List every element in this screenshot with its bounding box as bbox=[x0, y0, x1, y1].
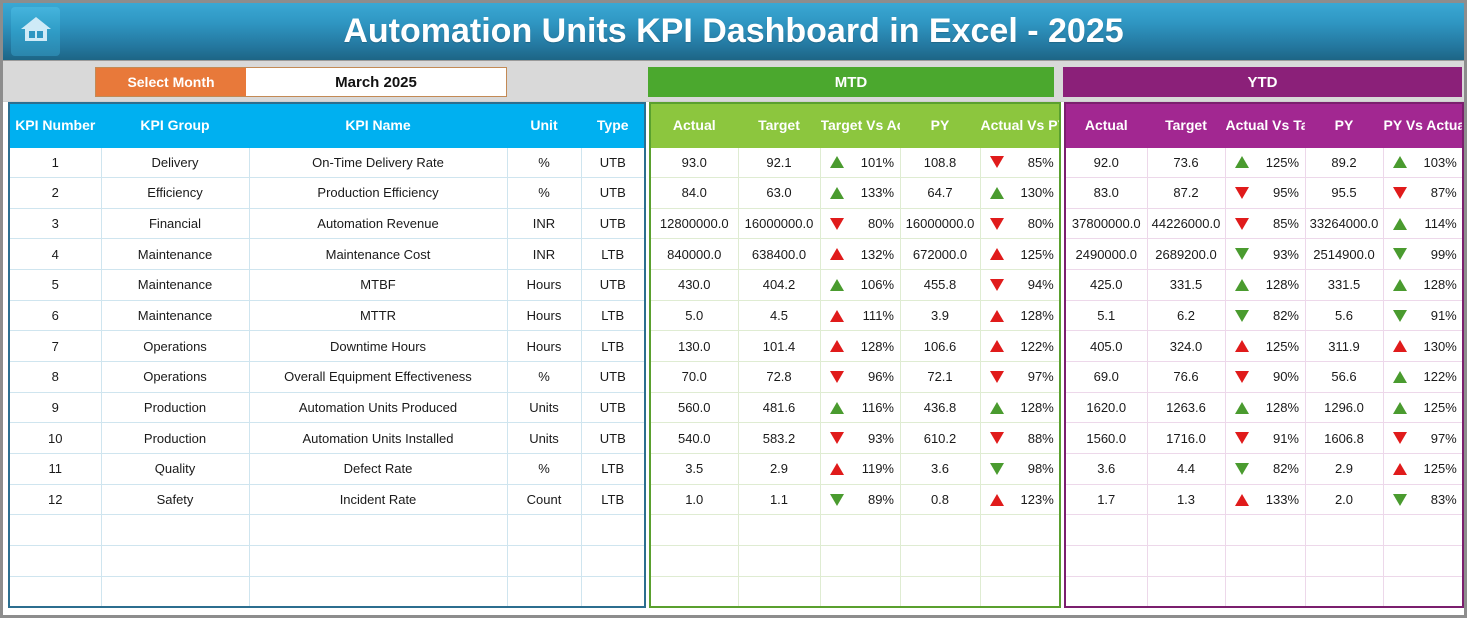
table-row[interactable]: 83.087.295%95.587% bbox=[1065, 178, 1463, 209]
arrow-down-icon bbox=[990, 432, 1004, 444]
cell-type: UTB bbox=[581, 392, 645, 423]
table-row[interactable]: 2EfficiencyProduction Efficiency%UTB bbox=[9, 178, 645, 209]
percent-value: 132% bbox=[854, 247, 894, 262]
table-row[interactable]: 4MaintenanceMaintenance CostINRLTB bbox=[9, 239, 645, 270]
cell-mtd-target: 101.4 bbox=[738, 331, 820, 362]
cell-ytd-py: 2514900.0 bbox=[1305, 239, 1383, 270]
cell-ytd-target: 44226000.0 bbox=[1147, 208, 1225, 239]
cell-ytd-py-vs-actual: 83% bbox=[1383, 484, 1463, 515]
cell-ytd-py-vs-actual: 97% bbox=[1383, 423, 1463, 454]
cell-mtd-target: 404.2 bbox=[738, 270, 820, 301]
cell-kpi-group: Maintenance bbox=[101, 300, 249, 331]
cell-ytd-target: 73.6 bbox=[1147, 147, 1225, 178]
cell-info-empty bbox=[101, 515, 249, 546]
percent-value: 114% bbox=[1417, 216, 1457, 231]
kpi-info-table: KPI Number KPI Group KPI Name Unit Type … bbox=[8, 102, 646, 608]
empty-table-row[interactable] bbox=[9, 576, 645, 607]
cell-info-empty bbox=[249, 576, 507, 607]
cell-ytd-empty bbox=[1305, 576, 1383, 607]
percent-value: 125% bbox=[1417, 400, 1457, 415]
cell-mtd-target: 638400.0 bbox=[738, 239, 820, 270]
col-mtd-actual[interactable]: Actual bbox=[650, 103, 738, 147]
kpi-grid-area: KPI Number KPI Group KPI Name Unit Type … bbox=[3, 102, 1464, 614]
percent-value: 111% bbox=[854, 308, 894, 323]
table-row[interactable]: 540.0583.293%610.288% bbox=[650, 423, 1060, 454]
cell-type: LTB bbox=[581, 484, 645, 515]
cell-ytd-empty bbox=[1225, 515, 1305, 546]
cell-ytd-actual-vs-target: 128% bbox=[1225, 392, 1305, 423]
percent-value: 93% bbox=[1259, 247, 1299, 262]
col-ytd-actual-vs-target[interactable]: Actual Vs Target bbox=[1225, 103, 1305, 147]
table-row[interactable]: 3FinancialAutomation RevenueINRUTB bbox=[9, 208, 645, 239]
empty-table-row[interactable] bbox=[650, 515, 1060, 546]
page-title: Automation Units KPI Dashboard in Excel … bbox=[343, 12, 1123, 51]
cell-ytd-target: 1.3 bbox=[1147, 484, 1225, 515]
percent-value: 125% bbox=[1417, 461, 1457, 476]
cell-ytd-actual: 92.0 bbox=[1065, 147, 1147, 178]
cell-mtd-actual: 70.0 bbox=[650, 362, 738, 393]
cell-ytd-py: 2.9 bbox=[1305, 454, 1383, 485]
cell-ytd-py-vs-actual: 91% bbox=[1383, 300, 1463, 331]
cell-kpi-name: Automation Revenue bbox=[249, 208, 507, 239]
cell-ytd-actual: 1560.0 bbox=[1065, 423, 1147, 454]
percent-value: 99% bbox=[1417, 247, 1457, 262]
cell-unit: Hours bbox=[507, 331, 581, 362]
arrow-down-icon bbox=[1393, 432, 1407, 444]
arrow-down-icon bbox=[1393, 248, 1407, 260]
cell-ytd-target: 4.4 bbox=[1147, 454, 1225, 485]
col-ytd-py[interactable]: PY bbox=[1305, 103, 1383, 147]
percent-value: 101% bbox=[854, 155, 894, 170]
percent-value: 128% bbox=[1259, 400, 1299, 415]
table-row[interactable]: 560.0481.6116%436.8128% bbox=[650, 392, 1060, 423]
empty-table-row[interactable] bbox=[9, 515, 645, 546]
col-kpi-name[interactable]: KPI Name bbox=[249, 103, 507, 147]
mtd-section-banner[interactable]: MTD bbox=[648, 67, 1054, 97]
cell-kpi-number: 8 bbox=[9, 362, 101, 393]
percent-value: 82% bbox=[1259, 308, 1299, 323]
col-ytd-actual[interactable]: Actual bbox=[1065, 103, 1147, 147]
cell-ytd-py: 5.6 bbox=[1305, 300, 1383, 331]
cell-ytd-py: 89.2 bbox=[1305, 147, 1383, 178]
cell-mtd-target-vs-actual: 101% bbox=[820, 147, 900, 178]
table-row[interactable]: 425.0331.5128%331.5128% bbox=[1065, 270, 1463, 301]
arrow-down-icon bbox=[830, 494, 844, 506]
cell-ytd-py-vs-actual: 87% bbox=[1383, 178, 1463, 209]
cell-mtd-py: 64.7 bbox=[900, 178, 980, 209]
cell-kpi-number: 3 bbox=[9, 208, 101, 239]
arrow-up-icon bbox=[1235, 340, 1249, 352]
cell-mtd-actual-vs-py: 123% bbox=[980, 484, 1060, 515]
empty-table-row[interactable] bbox=[650, 576, 1060, 607]
cell-mtd-actual: 3.5 bbox=[650, 454, 738, 485]
cell-kpi-name: On-Time Delivery Rate bbox=[249, 147, 507, 178]
cell-info-empty bbox=[9, 546, 101, 577]
cell-type: UTB bbox=[581, 362, 645, 393]
arrow-down-icon bbox=[1393, 494, 1407, 506]
cell-ytd-actual-vs-target: 125% bbox=[1225, 331, 1305, 362]
col-type[interactable]: Type bbox=[581, 103, 645, 147]
table-row[interactable]: 3.64.482%2.9125% bbox=[1065, 454, 1463, 485]
cell-mtd-target: 16000000.0 bbox=[738, 208, 820, 239]
cell-mtd-actual: 12800000.0 bbox=[650, 208, 738, 239]
cell-kpi-number: 7 bbox=[9, 331, 101, 362]
cell-mtd-empty bbox=[738, 546, 820, 577]
cell-mtd-target-vs-actual: 106% bbox=[820, 270, 900, 301]
percent-value: 85% bbox=[1014, 155, 1054, 170]
empty-table-row[interactable] bbox=[1065, 576, 1463, 607]
month-selector[interactable]: Select Month March 2025 bbox=[95, 67, 507, 97]
table-row[interactable]: 8OperationsOverall Equipment Effectivene… bbox=[9, 362, 645, 393]
cell-ytd-target: 1263.6 bbox=[1147, 392, 1225, 423]
percent-value: 95% bbox=[1259, 185, 1299, 200]
cell-ytd-py-vs-actual: 130% bbox=[1383, 331, 1463, 362]
cell-mtd-actual: 93.0 bbox=[650, 147, 738, 178]
cell-ytd-py: 1606.8 bbox=[1305, 423, 1383, 454]
cell-kpi-number: 6 bbox=[9, 300, 101, 331]
cell-ytd-empty bbox=[1383, 576, 1463, 607]
cell-ytd-target: 6.2 bbox=[1147, 300, 1225, 331]
percent-value: 89% bbox=[854, 492, 894, 507]
cell-ytd-actual: 1620.0 bbox=[1065, 392, 1147, 423]
cell-unit: INR bbox=[507, 239, 581, 270]
selected-month-value[interactable]: March 2025 bbox=[246, 68, 506, 96]
table-row[interactable]: 6MaintenanceMTTRHoursLTB bbox=[9, 300, 645, 331]
cell-ytd-actual-vs-target: 82% bbox=[1225, 300, 1305, 331]
table-row[interactable]: 1DeliveryOn-Time Delivery Rate%UTB bbox=[9, 147, 645, 178]
ytd-section-banner[interactable]: YTD bbox=[1063, 67, 1462, 97]
title-bar: Automation Units KPI Dashboard in Excel … bbox=[3, 3, 1464, 61]
arrow-up-icon bbox=[990, 187, 1004, 199]
cell-mtd-actual: 560.0 bbox=[650, 392, 738, 423]
cell-mtd-empty bbox=[738, 576, 820, 607]
cell-ytd-target: 324.0 bbox=[1147, 331, 1225, 362]
cell-ytd-py: 1296.0 bbox=[1305, 392, 1383, 423]
cell-type: LTB bbox=[581, 239, 645, 270]
col-ytd-py-vs-actual[interactable]: PY Vs Actual bbox=[1383, 103, 1463, 147]
cell-kpi-group: Operations bbox=[101, 362, 249, 393]
percent-value: 96% bbox=[854, 369, 894, 384]
cell-type: UTB bbox=[581, 178, 645, 209]
cell-ytd-actual: 83.0 bbox=[1065, 178, 1147, 209]
table-row[interactable]: 7OperationsDowntime HoursHoursLTB bbox=[9, 331, 645, 362]
percent-value: 93% bbox=[854, 431, 894, 446]
home-icon bbox=[20, 15, 52, 48]
cell-mtd-empty bbox=[980, 515, 1060, 546]
col-mtd-actual-vs-py[interactable]: Actual Vs PY bbox=[980, 103, 1060, 147]
cell-ytd-actual: 1.7 bbox=[1065, 484, 1147, 515]
cell-mtd-target-vs-actual: 111% bbox=[820, 300, 900, 331]
cell-info-empty bbox=[9, 515, 101, 546]
cell-info-empty bbox=[581, 546, 645, 577]
percent-value: 128% bbox=[1014, 400, 1054, 415]
cell-info-empty bbox=[507, 546, 581, 577]
table-row[interactable]: 1.01.189%0.8123% bbox=[650, 484, 1060, 515]
cell-info-empty bbox=[249, 515, 507, 546]
cell-kpi-group: Delivery bbox=[101, 147, 249, 178]
cell-ytd-actual: 405.0 bbox=[1065, 331, 1147, 362]
col-ytd-target[interactable]: Target bbox=[1147, 103, 1225, 147]
home-button[interactable] bbox=[11, 7, 60, 56]
arrow-down-icon bbox=[830, 218, 844, 230]
cell-type: LTB bbox=[581, 300, 645, 331]
cell-mtd-actual-vs-py: 128% bbox=[980, 392, 1060, 423]
cell-ytd-actual-vs-target: 125% bbox=[1225, 147, 1305, 178]
cell-mtd-actual: 430.0 bbox=[650, 270, 738, 301]
table-row[interactable]: 430.0404.2106%455.894% bbox=[650, 270, 1060, 301]
col-mtd-target-vs-actual[interactable]: Target Vs Actual bbox=[820, 103, 900, 147]
percent-value: 97% bbox=[1417, 431, 1457, 446]
cell-ytd-actual: 2490000.0 bbox=[1065, 239, 1147, 270]
cell-mtd-actual: 5.0 bbox=[650, 300, 738, 331]
cell-kpi-group: Maintenance bbox=[101, 270, 249, 301]
table-row[interactable]: 1560.01716.091%1606.897% bbox=[1065, 423, 1463, 454]
cell-kpi-group: Efficiency bbox=[101, 178, 249, 209]
arrow-up-icon bbox=[830, 248, 844, 260]
cell-ytd-actual-vs-target: 93% bbox=[1225, 239, 1305, 270]
cell-mtd-target: 1.1 bbox=[738, 484, 820, 515]
percent-value: 80% bbox=[1014, 216, 1054, 231]
cell-ytd-actual-vs-target: 95% bbox=[1225, 178, 1305, 209]
arrow-up-icon bbox=[1393, 371, 1407, 383]
arrow-down-icon bbox=[1393, 187, 1407, 199]
table-row[interactable]: 5.04.5111%3.9128% bbox=[650, 300, 1060, 331]
select-month-label[interactable]: Select Month bbox=[96, 68, 246, 96]
cell-ytd-target: 1716.0 bbox=[1147, 423, 1225, 454]
cell-mtd-empty bbox=[900, 576, 980, 607]
cell-ytd-actual-vs-target: 85% bbox=[1225, 208, 1305, 239]
cell-mtd-py: 672000.0 bbox=[900, 239, 980, 270]
table-row[interactable]: 5MaintenanceMTBFHoursUTB bbox=[9, 270, 645, 301]
percent-value: 122% bbox=[1014, 339, 1054, 354]
cell-mtd-target: 72.8 bbox=[738, 362, 820, 393]
table-row[interactable]: 69.076.690%56.6122% bbox=[1065, 362, 1463, 393]
arrow-down-icon bbox=[1235, 218, 1249, 230]
cell-mtd-actual: 84.0 bbox=[650, 178, 738, 209]
cell-type: UTB bbox=[581, 208, 645, 239]
arrow-up-icon bbox=[1235, 156, 1249, 168]
cell-mtd-empty bbox=[738, 515, 820, 546]
arrow-down-icon bbox=[1235, 248, 1249, 260]
cell-type: UTB bbox=[581, 423, 645, 454]
cell-info-empty bbox=[101, 576, 249, 607]
cell-info-empty bbox=[9, 576, 101, 607]
ytd-body: 92.073.6125%89.2103%83.087.295%95.587%37… bbox=[1065, 147, 1463, 607]
cell-mtd-actual-vs-py: 98% bbox=[980, 454, 1060, 485]
percent-value: 119% bbox=[854, 461, 894, 476]
percent-value: 83% bbox=[1417, 492, 1457, 507]
cell-unit: Hours bbox=[507, 270, 581, 301]
table-row[interactable]: 2490000.02689200.093%2514900.099% bbox=[1065, 239, 1463, 270]
percent-value: 123% bbox=[1014, 492, 1054, 507]
cell-kpi-name: Automation Units Produced bbox=[249, 392, 507, 423]
cell-mtd-empty bbox=[900, 515, 980, 546]
percent-value: 116% bbox=[854, 400, 894, 415]
cell-mtd-actual-vs-py: 85% bbox=[980, 147, 1060, 178]
cell-ytd-py-vs-actual: 114% bbox=[1383, 208, 1463, 239]
arrow-up-icon bbox=[1393, 156, 1407, 168]
empty-table-row[interactable] bbox=[1065, 515, 1463, 546]
cell-ytd-empty bbox=[1065, 515, 1147, 546]
cell-ytd-empty bbox=[1065, 546, 1147, 577]
cell-mtd-target-vs-actual: 116% bbox=[820, 392, 900, 423]
cell-mtd-target-vs-actual: 133% bbox=[820, 178, 900, 209]
cell-mtd-py: 610.2 bbox=[900, 423, 980, 454]
table-row[interactable]: 70.072.896%72.197% bbox=[650, 362, 1060, 393]
cell-ytd-actual: 69.0 bbox=[1065, 362, 1147, 393]
arrow-down-icon bbox=[830, 432, 844, 444]
cell-mtd-actual-vs-py: 94% bbox=[980, 270, 1060, 301]
cell-ytd-py-vs-actual: 128% bbox=[1383, 270, 1463, 301]
cell-ytd-empty bbox=[1065, 576, 1147, 607]
cell-info-empty bbox=[507, 515, 581, 546]
empty-table-row[interactable] bbox=[650, 546, 1060, 577]
col-unit[interactable]: Unit bbox=[507, 103, 581, 147]
cell-mtd-actual-vs-py: 130% bbox=[980, 178, 1060, 209]
table-row[interactable]: 11QualityDefect Rate%LTB bbox=[9, 454, 645, 485]
percent-value: 82% bbox=[1259, 461, 1299, 476]
percent-value: 130% bbox=[1417, 339, 1457, 354]
col-kpi-number[interactable]: KPI Number bbox=[9, 103, 101, 147]
table-row[interactable]: 1.71.3133%2.083% bbox=[1065, 484, 1463, 515]
cell-mtd-empty bbox=[980, 546, 1060, 577]
cell-ytd-empty bbox=[1147, 515, 1225, 546]
cell-kpi-group: Production bbox=[101, 423, 249, 454]
cell-kpi-number: 10 bbox=[9, 423, 101, 454]
table-row[interactable]: 840000.0638400.0132%672000.0125% bbox=[650, 239, 1060, 270]
arrow-up-icon bbox=[830, 310, 844, 322]
cell-mtd-empty bbox=[650, 576, 738, 607]
col-mtd-target[interactable]: Target bbox=[738, 103, 820, 147]
percent-value: 125% bbox=[1259, 339, 1299, 354]
cell-kpi-name: Overall Equipment Effectiveness bbox=[249, 362, 507, 393]
cell-mtd-empty bbox=[650, 515, 738, 546]
cell-kpi-group: Safety bbox=[101, 484, 249, 515]
percent-value: 103% bbox=[1417, 155, 1457, 170]
cell-info-empty bbox=[581, 515, 645, 546]
table-row[interactable]: 405.0324.0125%311.9130% bbox=[1065, 331, 1463, 362]
cell-unit: % bbox=[507, 178, 581, 209]
cell-mtd-target: 63.0 bbox=[738, 178, 820, 209]
table-row[interactable]: 12SafetyIncident RateCountLTB bbox=[9, 484, 645, 515]
cell-kpi-name: Automation Units Installed bbox=[249, 423, 507, 454]
cell-ytd-actual-vs-target: 82% bbox=[1225, 454, 1305, 485]
cell-type: UTB bbox=[581, 147, 645, 178]
table-row[interactable]: 130.0101.4128%106.6122% bbox=[650, 331, 1060, 362]
cell-ytd-py: 331.5 bbox=[1305, 270, 1383, 301]
cell-unit: Hours bbox=[507, 300, 581, 331]
cell-kpi-number: 12 bbox=[9, 484, 101, 515]
cell-ytd-empty bbox=[1225, 546, 1305, 577]
cell-mtd-py: 3.9 bbox=[900, 300, 980, 331]
table-row[interactable]: 3.52.9119%3.698% bbox=[650, 454, 1060, 485]
cell-ytd-target: 331.5 bbox=[1147, 270, 1225, 301]
cell-mtd-py: 436.8 bbox=[900, 392, 980, 423]
arrow-down-icon bbox=[830, 371, 844, 383]
cell-mtd-target-vs-actual: 89% bbox=[820, 484, 900, 515]
cell-info-empty bbox=[249, 546, 507, 577]
col-kpi-group[interactable]: KPI Group bbox=[101, 103, 249, 147]
mtd-body: 93.092.1101%108.885%84.063.0133%64.7130%… bbox=[650, 147, 1060, 607]
cell-kpi-group: Operations bbox=[101, 331, 249, 362]
cell-type: UTB bbox=[581, 270, 645, 301]
col-mtd-py[interactable]: PY bbox=[900, 103, 980, 147]
mtd-header-row: Actual Target Target Vs Actual PY Actual… bbox=[650, 103, 1060, 147]
table-row[interactable]: 10ProductionAutomation Units InstalledUn… bbox=[9, 423, 645, 454]
cell-ytd-target: 87.2 bbox=[1147, 178, 1225, 209]
table-row[interactable]: 92.073.6125%89.2103% bbox=[1065, 147, 1463, 178]
percent-value: 128% bbox=[1417, 277, 1457, 292]
arrow-up-icon bbox=[1393, 340, 1407, 352]
arrow-up-icon bbox=[990, 340, 1004, 352]
cell-mtd-actual-vs-py: 122% bbox=[980, 331, 1060, 362]
cell-unit: % bbox=[507, 362, 581, 393]
cell-unit: % bbox=[507, 147, 581, 178]
cell-unit: Units bbox=[507, 392, 581, 423]
table-row[interactable]: 1620.01263.6128%1296.0125% bbox=[1065, 392, 1463, 423]
cell-ytd-py-vs-actual: 125% bbox=[1383, 454, 1463, 485]
cell-ytd-actual: 37800000.0 bbox=[1065, 208, 1147, 239]
cell-mtd-py: 108.8 bbox=[900, 147, 980, 178]
cell-mtd-py: 72.1 bbox=[900, 362, 980, 393]
table-row[interactable]: 5.16.282%5.691% bbox=[1065, 300, 1463, 331]
table-row[interactable]: 12800000.016000000.080%16000000.080% bbox=[650, 208, 1060, 239]
cell-mtd-py: 455.8 bbox=[900, 270, 980, 301]
cell-ytd-target: 76.6 bbox=[1147, 362, 1225, 393]
arrow-down-icon bbox=[990, 218, 1004, 230]
percent-value: 122% bbox=[1417, 369, 1457, 384]
cell-ytd-empty bbox=[1305, 515, 1383, 546]
table-row[interactable]: 9ProductionAutomation Units ProducedUnit… bbox=[9, 392, 645, 423]
cell-kpi-name: Maintenance Cost bbox=[249, 239, 507, 270]
table-row[interactable]: 37800000.044226000.085%33264000.0114% bbox=[1065, 208, 1463, 239]
percent-value: 130% bbox=[1014, 185, 1054, 200]
cell-ytd-empty bbox=[1305, 546, 1383, 577]
cell-ytd-py: 311.9 bbox=[1305, 331, 1383, 362]
cell-ytd-actual-vs-target: 133% bbox=[1225, 484, 1305, 515]
arrow-down-icon bbox=[1235, 371, 1249, 383]
cell-mtd-py: 106.6 bbox=[900, 331, 980, 362]
cell-ytd-actual-vs-target: 91% bbox=[1225, 423, 1305, 454]
arrow-up-icon bbox=[1235, 279, 1249, 291]
percent-value: 128% bbox=[854, 339, 894, 354]
percent-value: 125% bbox=[1014, 247, 1054, 262]
cell-mtd-empty bbox=[980, 576, 1060, 607]
empty-table-row[interactable] bbox=[1065, 546, 1463, 577]
arrow-up-icon bbox=[1235, 494, 1249, 506]
percent-value: 128% bbox=[1014, 308, 1054, 323]
arrow-up-icon bbox=[990, 494, 1004, 506]
cell-ytd-actual-vs-target: 90% bbox=[1225, 362, 1305, 393]
cell-ytd-py-vs-actual: 103% bbox=[1383, 147, 1463, 178]
cell-mtd-empty bbox=[650, 546, 738, 577]
mtd-table: Actual Target Target Vs Actual PY Actual… bbox=[649, 102, 1061, 608]
cell-mtd-actual-vs-py: 97% bbox=[980, 362, 1060, 393]
info-body: 1DeliveryOn-Time Delivery Rate%UTB2Effic… bbox=[9, 147, 645, 607]
table-row[interactable]: 93.092.1101%108.885% bbox=[650, 147, 1060, 178]
cell-mtd-actual-vs-py: 128% bbox=[980, 300, 1060, 331]
info-header-row: KPI Number KPI Group KPI Name Unit Type bbox=[9, 103, 645, 147]
arrow-down-icon bbox=[990, 156, 1004, 168]
cell-kpi-group: Production bbox=[101, 392, 249, 423]
cell-kpi-name: Defect Rate bbox=[249, 454, 507, 485]
arrow-down-icon bbox=[1235, 432, 1249, 444]
cell-ytd-actual-vs-target: 128% bbox=[1225, 270, 1305, 301]
table-row[interactable]: 84.063.0133%64.7130% bbox=[650, 178, 1060, 209]
cell-kpi-number: 5 bbox=[9, 270, 101, 301]
empty-table-row[interactable] bbox=[9, 546, 645, 577]
cell-unit: Units bbox=[507, 423, 581, 454]
